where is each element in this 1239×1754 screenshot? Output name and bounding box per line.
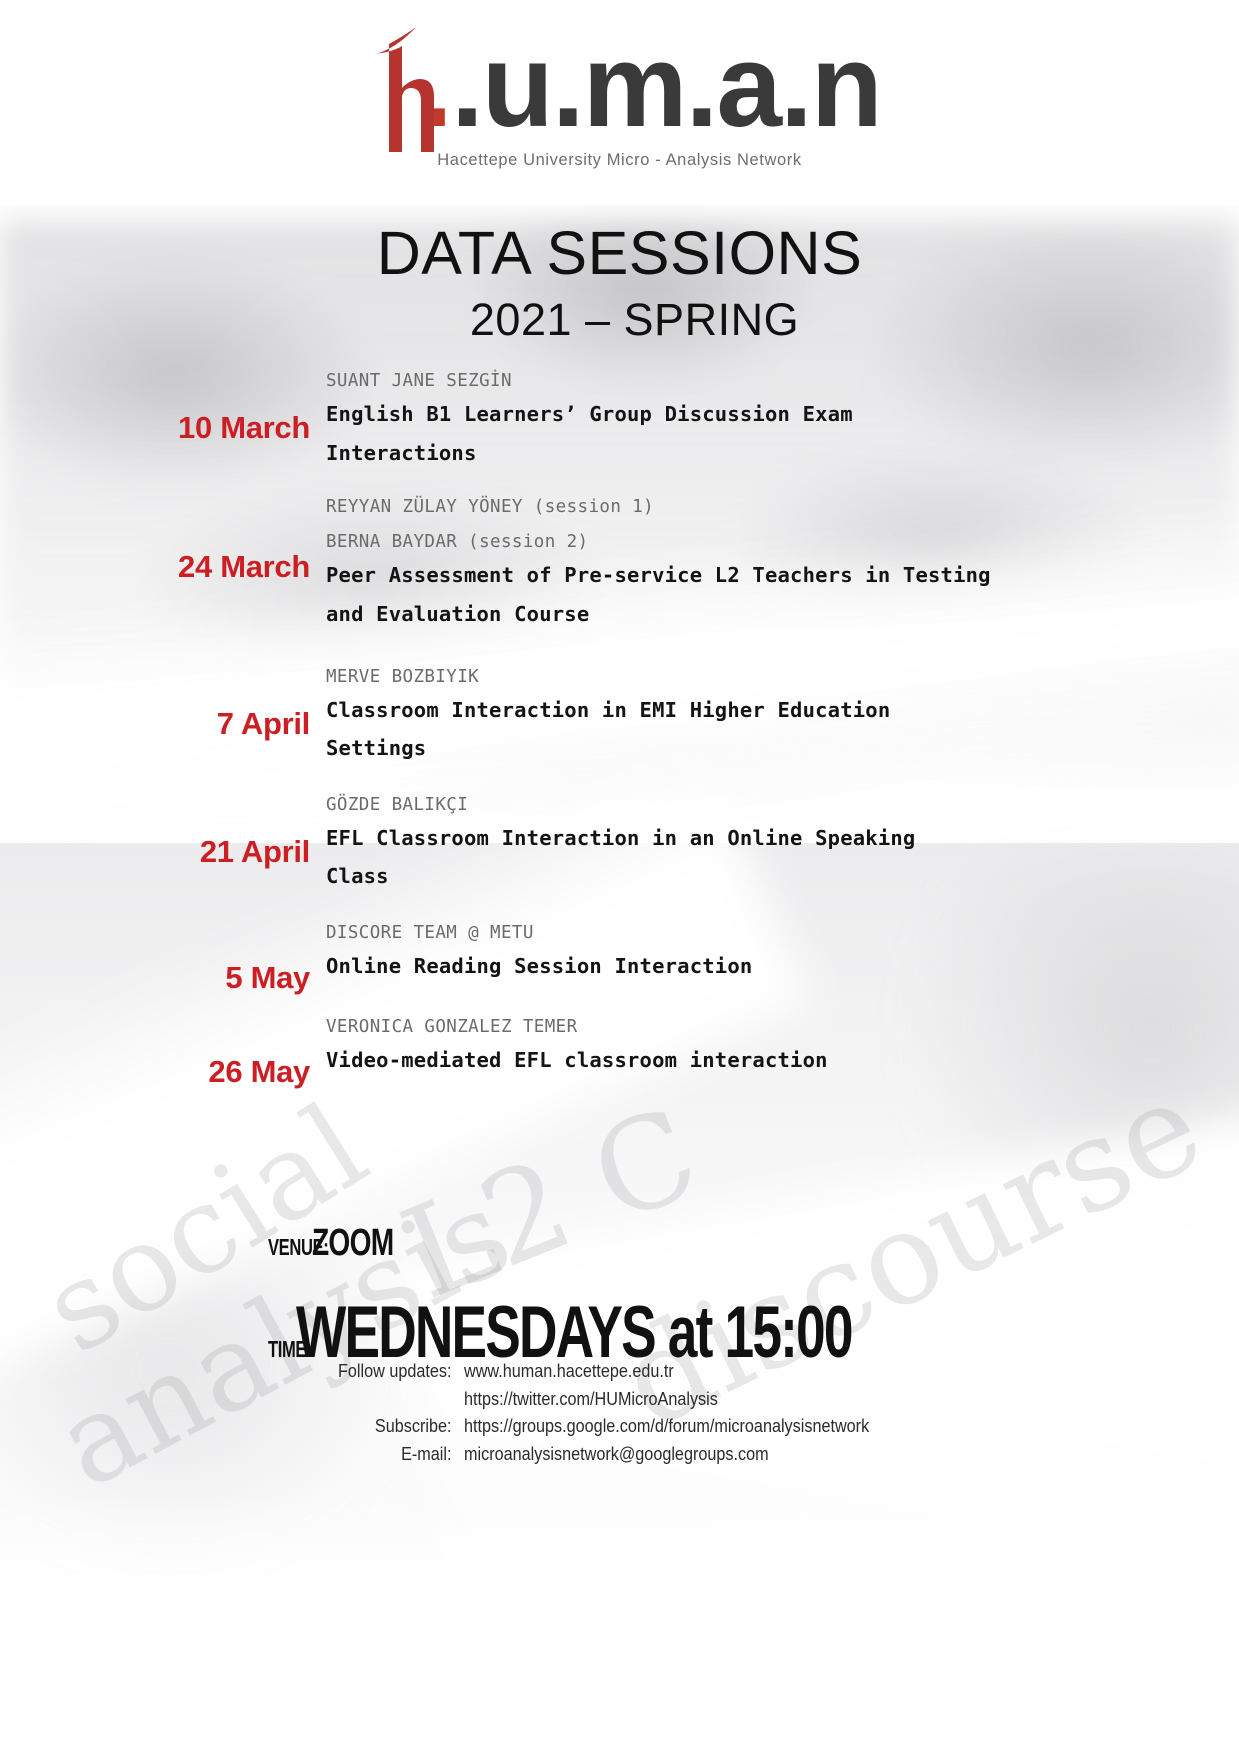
contact-table: Follow updates: www.human.hacettepe.edu.… <box>324 1358 914 1468</box>
contact-block: Follow updates: www.human.hacettepe.edu.… <box>0 1358 1239 1468</box>
session-row: 7 April MERVE BOZBIYIK Classroom Interac… <box>0 664 1239 768</box>
session-row: 26 May VERONICA GONZALEZ TEMER Video-med… <box>0 1014 1239 1090</box>
logo-wordmark-text: .u.m.a.n <box>451 20 881 152</box>
session-title-line: Online Reading Session Interaction <box>326 947 1199 986</box>
session-body: SUANT JANE SEZGİN English B1 Learners’ G… <box>326 368 1239 472</box>
session-speaker: DISCORE TEAM @ METU <box>326 920 1199 947</box>
contact-label <box>338 1386 464 1414</box>
session-title-line: Video-mediated EFL classroom interaction <box>326 1041 1199 1080</box>
contact-row: Subscribe: https://groups.google.com/d/f… <box>324 1413 914 1441</box>
session-speaker: BERNA BAYDAR (session 2) <box>326 529 1199 556</box>
session-speaker: VERONICA GONZALEZ TEMER <box>326 1014 1199 1041</box>
session-body: REYYAN ZÜLAY YÖNEY (session 1) BERNA BAY… <box>326 494 1239 633</box>
session-title-line: Peer Assessment of Pre-service L2 Teache… <box>326 556 1199 595</box>
page-subtitle: 2021 – SPRING <box>0 294 1239 346</box>
session-date: 5 May <box>0 920 326 996</box>
session-body: MERVE BOZBIYIK Classroom Interaction in … <box>326 664 1239 768</box>
contact-value-twitter[interactable]: https://twitter.com/HUMicroAnalysis <box>464 1386 869 1414</box>
venue-row: VENUE: ZOOM <box>268 1222 1057 1265</box>
session-body: DISCORE TEAM @ METU Online Reading Sessi… <box>326 920 1239 986</box>
session-row: 21 April GÖZDE BALIKÇI EFL Classroom Int… <box>0 792 1239 896</box>
human-logo: ..u.m.a.n <box>358 22 881 157</box>
session-title-line: Class <box>326 857 1199 896</box>
session-title-line: Interactions <box>326 434 1199 473</box>
session-date: 7 April <box>0 664 326 742</box>
session-title-line: English B1 Learners’ Group Discussion Ex… <box>326 395 1199 434</box>
contact-value-website[interactable]: www.human.hacettepe.edu.tr <box>464 1358 869 1386</box>
contact-row: https://twitter.com/HUMicroAnalysis <box>324 1386 914 1414</box>
poster-canvas: social analysis L2 C discourse ..u.m.a.n… <box>0 0 1239 1754</box>
session-title-line: EFL Classroom Interaction in an Online S… <box>326 819 1199 858</box>
session-date: 24 March <box>0 494 326 585</box>
session-title-line: Settings <box>326 729 1199 768</box>
session-body: GÖZDE BALIKÇI EFL Classroom Interaction … <box>326 792 1239 896</box>
contact-value-group[interactable]: https://groups.google.com/d/forum/microa… <box>464 1413 869 1441</box>
session-date: 10 March <box>0 368 326 446</box>
contact-value-email[interactable]: microanalysisnetwork@googlegroups.com <box>464 1441 869 1469</box>
session-date: 21 April <box>0 792 326 870</box>
page-title: DATA SESSIONS <box>0 218 1239 288</box>
contact-row: Follow updates: www.human.hacettepe.edu.… <box>324 1358 914 1386</box>
session-speaker: SUANT JANE SEZGİN <box>326 368 1199 395</box>
session-title-line: Classroom Interaction in EMI Higher Educ… <box>326 691 1199 730</box>
session-speaker: GÖZDE BALIKÇI <box>326 792 1199 819</box>
session-body: VERONICA GONZALEZ TEMER Video-mediated E… <box>326 1014 1239 1080</box>
logo-band: ..u.m.a.n Hacettepe University Micro - A… <box>0 0 1239 205</box>
session-date: 26 May <box>0 1014 326 1090</box>
contact-label: Subscribe: <box>338 1413 464 1441</box>
session-row: 5 May DISCORE TEAM @ METU Online Reading… <box>0 920 1239 996</box>
logo-wrap: ..u.m.a.n Hacettepe University Micro - A… <box>0 22 1239 170</box>
session-row: 10 March SUANT JANE SEZGİN English B1 Le… <box>0 368 1239 472</box>
contact-row: E-mail: microanalysisnetwork@googlegroup… <box>324 1441 914 1469</box>
contact-label: Follow updates: <box>338 1358 464 1386</box>
session-speaker: MERVE BOZBIYIK <box>326 664 1199 691</box>
logo-wordmark: ..u.m.a.n <box>420 22 881 152</box>
session-list: 10 March SUANT JANE SEZGİN English B1 Le… <box>0 368 1239 1090</box>
background-bottom-fade <box>0 1494 1239 1754</box>
session-title-line: and Evaluation Course <box>326 595 1199 634</box>
session-row: 24 March REYYAN ZÜLAY YÖNEY (session 1) … <box>0 494 1239 633</box>
venue-value: ZOOM <box>312 1222 393 1265</box>
contact-label: E-mail: <box>338 1441 464 1469</box>
session-speaker: REYYAN ZÜLAY YÖNEY (session 1) <box>326 494 1199 521</box>
venue-time-block: VENUE: ZOOM TIME: WEDNESDAYS at 15:00 <box>268 1222 1057 1374</box>
stylised-h-icon <box>358 24 438 156</box>
